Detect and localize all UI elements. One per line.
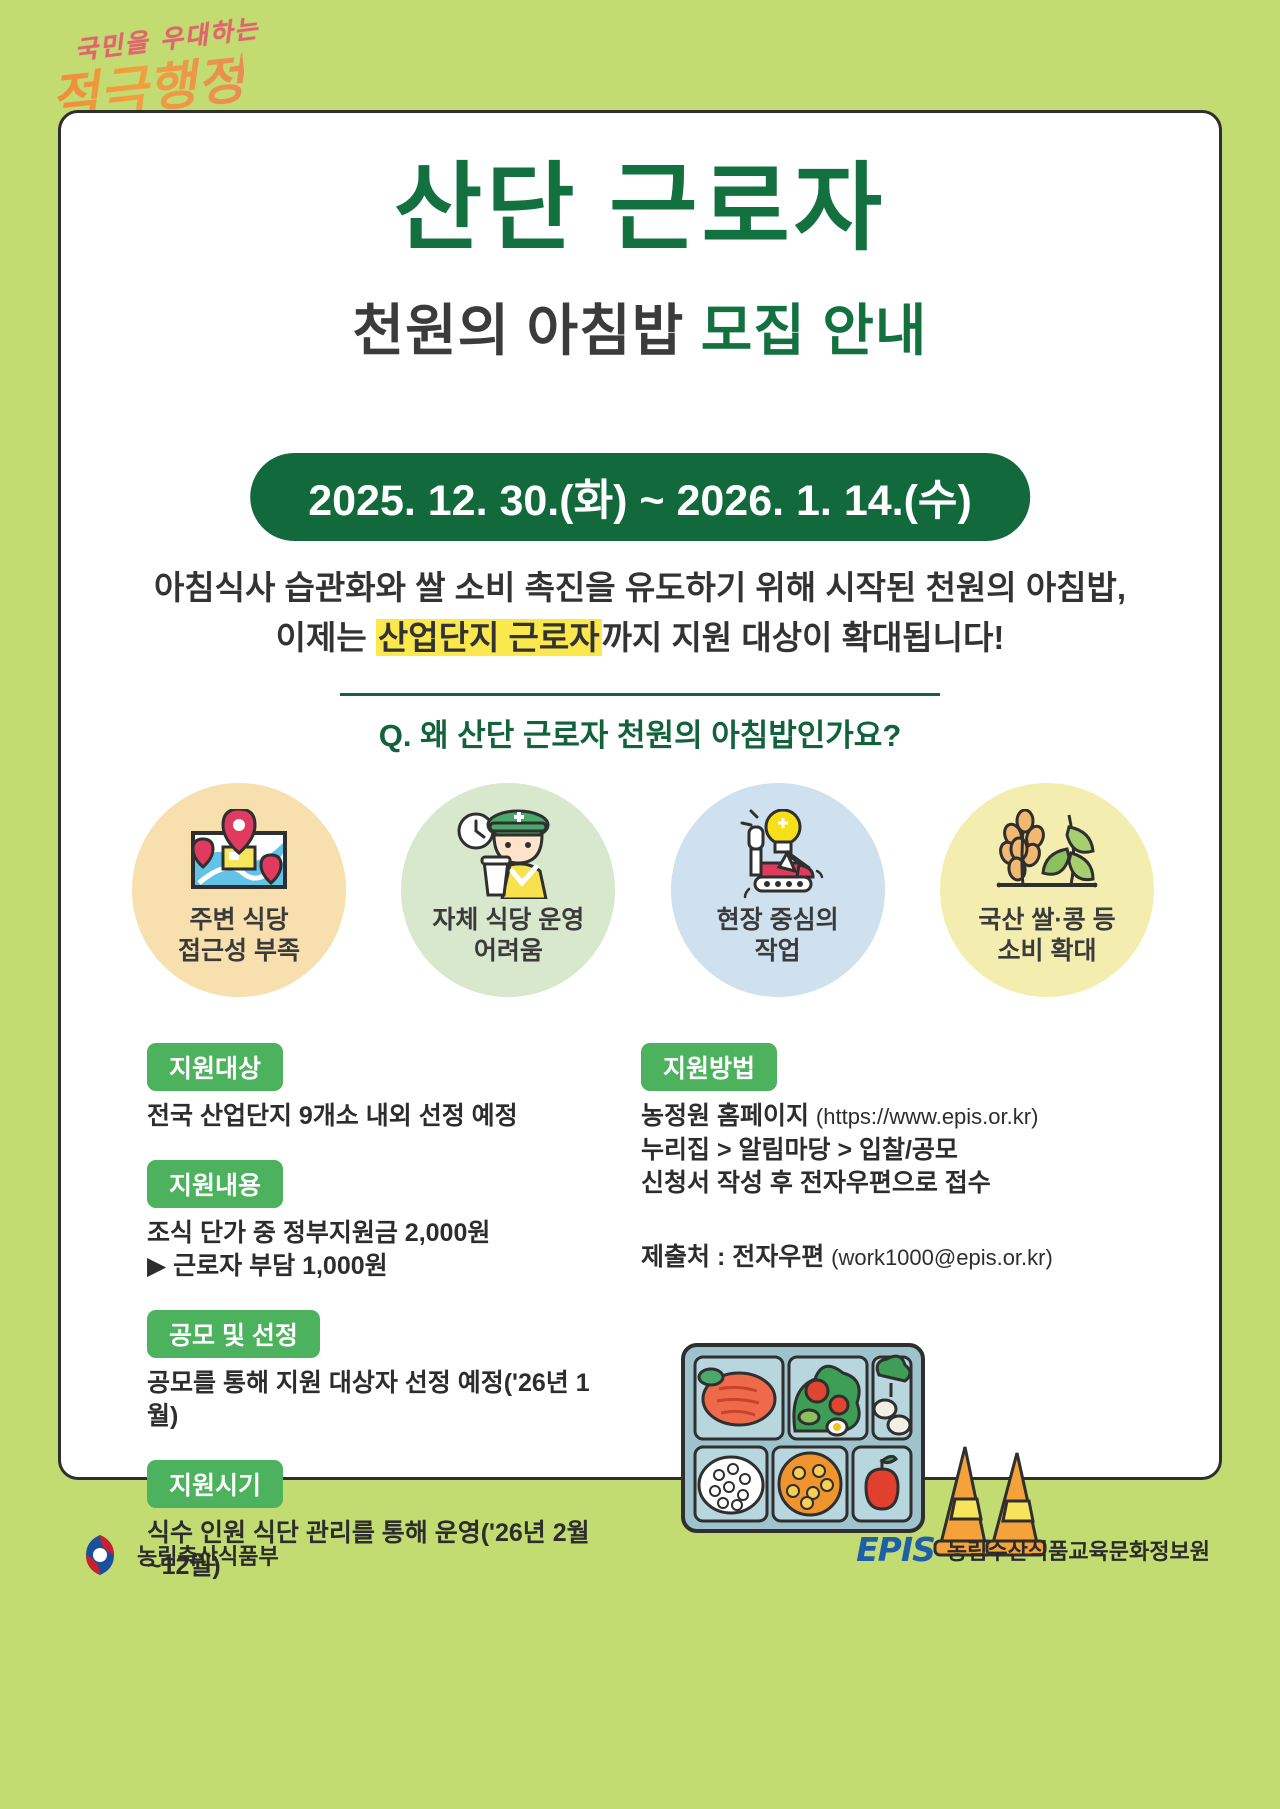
page-title: 산단 근로자 (61, 161, 1219, 257)
reason-label-0-line1: 주변 식당 (123, 905, 355, 936)
epis-logo-text: EPIS (856, 1530, 935, 1569)
excavator-idea-icon (725, 809, 831, 901)
apply-homepage-url: (https://www.epis.or.kr) (816, 1104, 1039, 1129)
map-pin-icon (185, 809, 293, 895)
reason-item-1: 자체 식당 운영 어려움 (392, 783, 624, 997)
lead-paragraph: 아침식사 습관화와 쌀 소비 촉진을 유도하기 위해 시작된 천원의 아침밥, … (61, 563, 1219, 662)
support-content-line-1: 조식 단가 중 정부지원금 2,000원 (147, 1217, 607, 1251)
apply-line1-text: 농정원 홈페이지 (641, 1102, 816, 1130)
apply-line-4: 제출처 : 전자우편 (work1000@epis.or.kr) (641, 1241, 1061, 1275)
lead-line-2: 이제는 산업단지 근로자까지 지원 대상이 확대됩니다! (61, 613, 1219, 663)
application-period-banner: 2025. 12. 30.(화) ~ 2026. 1. 14.(수) (250, 453, 1030, 541)
reason-label-2-line1: 현장 중심의 (662, 905, 894, 936)
reason-label-0-line2: 접근성 부족 (123, 936, 355, 967)
page-subtitle: 천원의 아침밥 모집 안내 (61, 303, 1219, 359)
reason-circles-row: 주변 식당 접근성 부족 (123, 783, 1163, 997)
poster-card: 산단 근로자 천원의 아침밥 모집 안내 2025. 12. 30.(화) ~ … (58, 110, 1222, 1480)
worker-drink-icon (454, 809, 562, 899)
reason-label-1: 자체 식당 운영 어려움 (392, 905, 624, 966)
subtitle-green-part: 모집 안내 (701, 299, 928, 362)
epis-logo-group: EPIS 농림수산식품교육문화정보원 (856, 1530, 1210, 1569)
tag-contest-selection: 공모 및 선정 (147, 1310, 320, 1358)
adminstration-calligraphy-logo: 국민을 우대하는 적극행정 (48, 14, 278, 124)
reason-item-0: 주변 식당 접근성 부족 (123, 783, 355, 997)
lead-highlight: 산업단지 근로자 (376, 619, 602, 656)
question-section: Q. 왜 산단 근로자 천원의 아침밥인가요? (340, 693, 940, 755)
apply-email-address: (work1000@epis.or.kr) (831, 1245, 1053, 1270)
lead-line-1: 아침식사 습관화와 쌀 소비 촉진을 유도하기 위해 시작된 천원의 아침밥, (61, 563, 1219, 613)
lead-line2-post: 까지 지원 대상이 확대됩니다! (602, 619, 1005, 656)
government-emblem-icon (75, 1530, 125, 1580)
apply-line-3: 신청서 작성 후 전자우편으로 접수 (641, 1167, 1061, 1201)
tag-how-to-apply: 지원방법 (641, 1043, 777, 1091)
info-block-support-target: 지원대상 전국 산업단지 9개소 내외 선정 예정 (147, 1043, 607, 1134)
lead-line2-pre: 이제는 (276, 619, 376, 656)
poster-footer: 농림축산식품부 EPIS 농림수산식품교육문화정보원 (0, 1520, 1280, 1610)
info-block-contest-selection: 공모 및 선정 공모를 통해 지원 대상자 선정 예정('26년 1월) (147, 1310, 607, 1434)
reason-label-1-line2: 어려움 (392, 936, 624, 967)
reason-label-0: 주변 식당 접근성 부족 (123, 905, 355, 966)
ministry-name: 농림축산식품부 (137, 1539, 279, 1571)
tag-support-period: 지원시기 (147, 1460, 283, 1508)
epis-organization-name: 농림수산식품교육문화정보원 (947, 1534, 1210, 1566)
reason-item-2: 현장 중심의 작업 (662, 783, 894, 997)
reason-label-2-line2: 작업 (662, 936, 894, 967)
reason-label-3-line2: 소비 확대 (931, 936, 1163, 967)
rice-grain-icon (995, 809, 1099, 901)
apply-line-2: 누리집 > 알림마당 > 입찰/공모 (641, 1134, 1061, 1168)
tag-support-target: 지원대상 (147, 1043, 283, 1091)
reason-label-3-line1: 국산 쌀·콩 등 (931, 905, 1163, 936)
reason-label-3: 국산 쌀·콩 등 소비 확대 (931, 905, 1163, 966)
reason-label-1-line1: 자체 식당 운영 (392, 905, 624, 936)
reason-label-2: 현장 중심의 작업 (662, 905, 894, 966)
reason-item-3: 국산 쌀·콩 등 소비 확대 (931, 783, 1163, 997)
support-content-line-2: ▶ 근로자 부담 1,000원 (147, 1250, 607, 1284)
subtitle-dark-part: 천원의 아침밥 (353, 299, 685, 362)
tag-support-content: 지원내용 (147, 1160, 283, 1208)
apply-line4-text: 제출처 : 전자우편 (641, 1243, 831, 1271)
ministry-logo-group: 농림축산식품부 (75, 1530, 279, 1580)
lunch-tray-illustration (681, 1343, 925, 1533)
info-block-support-content: 지원내용 조식 단가 중 정부지원금 2,000원 ▶ 근로자 부담 1,000… (147, 1160, 607, 1284)
apply-line-1: 농정원 홈페이지 (https://www.epis.or.kr) (641, 1100, 1061, 1134)
support-target-line-1: 전국 산업단지 9개소 내외 선정 예정 (147, 1100, 607, 1134)
right-info-column: 지원방법 농정원 홈페이지 (https://www.epis.or.kr) 누… (641, 1043, 1061, 1274)
contest-selection-line-1: 공모를 통해 지원 대상자 선정 예정('26년 1월) (147, 1367, 607, 1434)
question-text: Q. 왜 산단 근로자 천원의 아침밥인가요? (340, 696, 940, 755)
